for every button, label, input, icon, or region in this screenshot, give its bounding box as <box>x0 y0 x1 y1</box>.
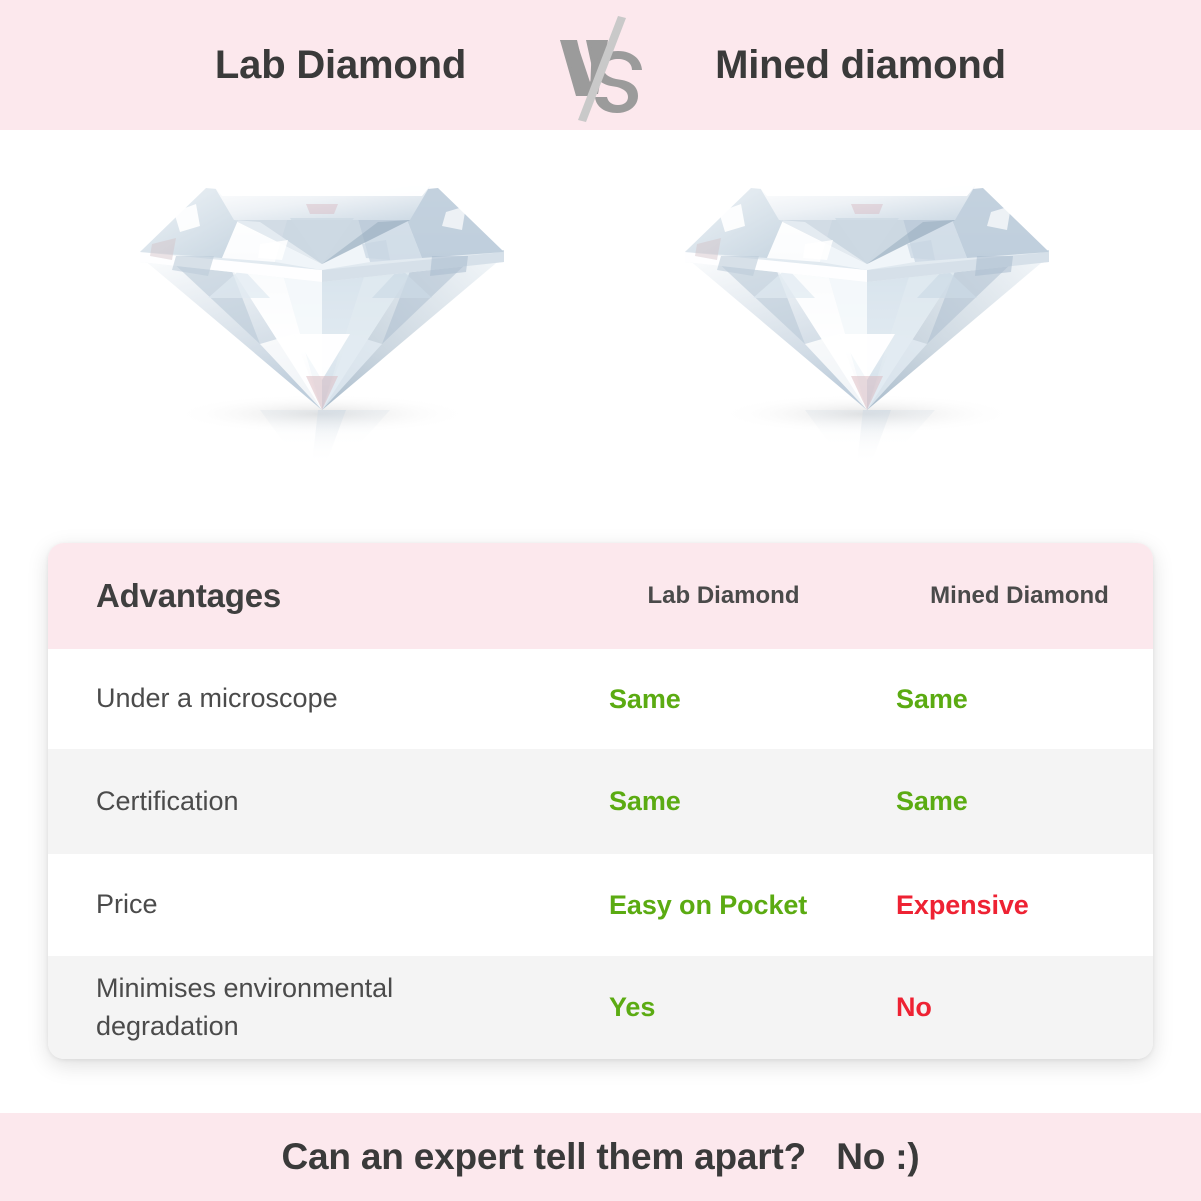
diamond-gallery <box>0 130 1201 530</box>
table-row: Minimises environmental degradation Yes … <box>48 956 1153 1059</box>
header-cell-advantages: Advantages <box>48 577 541 615</box>
mined-diamond-image <box>655 148 1075 478</box>
table-row: Price Easy on Pocket Expensive <box>48 854 1153 956</box>
table-row: Under a microscope Same Same <box>48 649 1153 749</box>
row-lab-cell: Same <box>541 786 872 817</box>
row-mined-value: No <box>896 992 932 1022</box>
footer-answer: No :) <box>836 1136 919 1178</box>
diamond-illustration <box>110 148 530 478</box>
row-lab-value: Easy on Pocket <box>609 890 807 920</box>
comparison-table: Advantages Lab Diamond Mined Diamond Und… <box>48 543 1153 1059</box>
lab-diamond-image <box>110 148 530 478</box>
row-lab-cell: Same <box>541 684 872 715</box>
row-lab-value: Same <box>609 786 681 816</box>
row-label: Under a microscope <box>96 683 338 713</box>
table-header-row: Advantages Lab Diamond Mined Diamond <box>48 543 1153 649</box>
footer-spacer <box>806 1136 836 1178</box>
vs-icon <box>546 0 656 130</box>
table-row: Certification Same Same <box>48 749 1153 854</box>
mined-diamond-title: Mined diamond <box>661 43 1061 88</box>
header-label-mined: Mined Diamond <box>896 582 1153 610</box>
row-mined-cell: Same <box>872 684 1153 715</box>
header-label-lab: Lab Diamond <box>609 582 872 610</box>
row-mined-value: Same <box>896 684 968 714</box>
top-title-band: Lab Diamond Mined diamond <box>0 0 1201 130</box>
row-label: Certification <box>96 786 239 816</box>
footer-question: Can an expert tell them apart? <box>282 1136 806 1178</box>
header-cell-mined: Mined Diamond <box>872 582 1153 610</box>
header-label-advantages: Advantages <box>96 577 281 614</box>
row-label-cell: Certification <box>48 783 541 820</box>
versus-badge <box>541 0 661 130</box>
diamond-illustration <box>655 148 1075 478</box>
header-cell-lab: Lab Diamond <box>541 582 872 610</box>
row-lab-value: Yes <box>609 992 655 1022</box>
row-label-cell: Price <box>48 886 541 923</box>
row-mined-value: Same <box>896 786 968 816</box>
row-lab-cell: Easy on Pocket <box>541 890 872 921</box>
row-lab-cell: Yes <box>541 992 872 1023</box>
row-mined-cell: No <box>872 992 1153 1023</box>
row-lab-value: Same <box>609 684 681 714</box>
bottom-footer-band: Can an expert tell them apart? No :) <box>0 1113 1201 1201</box>
row-label-cell: Minimises environmental degradation <box>48 970 541 1045</box>
row-label-cell: Under a microscope <box>48 680 541 717</box>
comparison-table-card: Advantages Lab Diamond Mined Diamond Und… <box>48 543 1153 1059</box>
row-label: Minimises environmental degradation <box>96 973 393 1040</box>
row-mined-cell: Expensive <box>872 890 1153 921</box>
row-mined-cell: Same <box>872 786 1153 817</box>
row-label: Price <box>96 889 158 919</box>
lab-diamond-title: Lab Diamond <box>141 43 541 88</box>
row-mined-value: Expensive <box>896 890 1029 920</box>
